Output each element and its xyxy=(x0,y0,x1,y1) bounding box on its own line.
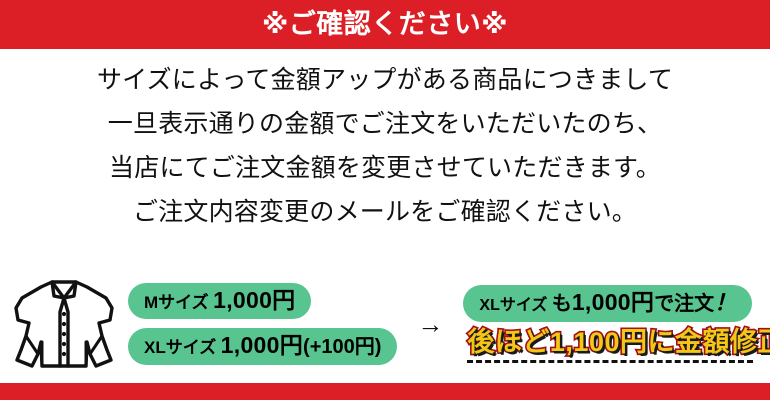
notice-line-4: ご注文内容変更のメールをご確認ください。 xyxy=(0,190,770,234)
page-title: ※ご確認ください※ xyxy=(262,11,508,38)
order-size-label: XLサイズ xyxy=(479,297,547,314)
order-exclamation: ！ xyxy=(714,290,736,315)
order-tail-label: で注文 xyxy=(654,293,714,315)
right-arrow-icon: → xyxy=(397,311,463,337)
correction-note: 後ほど1,100円に金額修正 xyxy=(467,328,770,358)
price-surcharge-xl: (+100円) xyxy=(303,336,381,358)
price-row-xl: XLサイズ 1,000円(+100円) xyxy=(128,328,397,365)
notice-line-2: 一旦表示通りの金額でご注文をいただいたのち、 xyxy=(0,102,770,146)
order-amount: 1,000円 xyxy=(572,289,654,315)
size-label-xl: XLサイズ xyxy=(144,338,216,357)
correction-underline xyxy=(467,360,753,363)
before-price-list: Mサイズ 1,000円 XLサイズ 1,000円(+100円) xyxy=(128,283,397,365)
price-amount-xl: 1,000円 xyxy=(221,332,303,358)
order-amount-prefix: も xyxy=(552,293,572,315)
price-row-m: Mサイズ 1,000円 xyxy=(128,283,311,319)
notice-line-1: サイズによって金額アップがある商品につきまして xyxy=(0,58,770,102)
order-confirmation-pill: XLサイズ も1,000円で注文！ xyxy=(463,285,752,322)
header-banner: ※ご確認ください※ xyxy=(0,0,770,49)
footer-banner xyxy=(0,383,770,400)
after-price-block: XLサイズ も1,000円で注文！ 後ほど1,100円に金額修正 xyxy=(463,285,770,364)
price-change-example: Mサイズ 1,000円 XLサイズ 1,000円(+100円) → XLサイズ … xyxy=(0,268,770,380)
dress-shirt-icon xyxy=(0,276,128,372)
correction-note-wrap: 後ほど1,100円に金額修正 xyxy=(463,328,770,364)
size-label-m: Mサイズ xyxy=(144,293,209,312)
price-amount-m: 1,000円 xyxy=(213,287,295,313)
notice-line-3: 当店にてご注文金額を変更させていただきます。 xyxy=(0,146,770,190)
notice-text-block: サイズによって金額アップがある商品につきまして 一旦表示通りの金額でご注文をいた… xyxy=(0,58,770,234)
